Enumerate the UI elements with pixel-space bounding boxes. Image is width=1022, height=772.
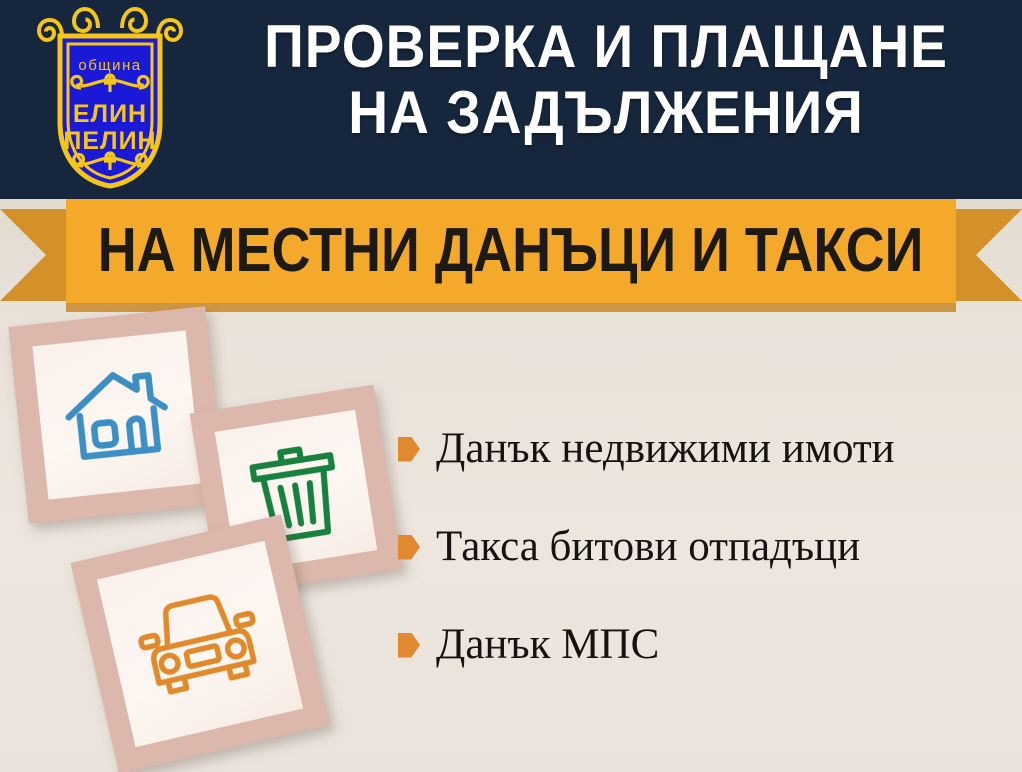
list-item-label: Такса битови отпадъци [436, 522, 860, 572]
stamp-inner [32, 330, 201, 499]
page-title-line-1: ПРОВЕРКА И ПЛАЩАНЕ [223, 14, 988, 80]
list-item-label: Данък МПС [436, 620, 659, 670]
ribbon-text: НА МЕСТНИ ДАНЪЦИ И ТАКСИ [98, 220, 924, 282]
tax-type-list: Данък недвижими имоти Такса битови отпад… [398, 424, 1018, 718]
bullet-arrow-icon [398, 437, 420, 462]
crest-name-line-1: ЕЛИН [73, 100, 147, 128]
list-item[interactable]: Данък недвижими имоти [398, 424, 1018, 474]
ribbon-banner: НА МЕСТНИ ДАНЪЦИ И ТАКСИ [66, 199, 956, 303]
header-title-group: ПРОВЕРКА И ПЛАЩАНЕ НА ЗАДЪЛЖЕНИЯ [190, 14, 1022, 146]
subtitle-ribbon: НА МЕСТНИ ДАНЪЦИ И ТАКСИ [0, 199, 1022, 309]
list-item[interactable]: Такса битови отпадъци [398, 522, 1018, 572]
house-icon [56, 358, 178, 471]
bullet-arrow-icon [398, 535, 420, 560]
header-band: община ЕЛИН ПЕЛИН [0, 0, 1022, 199]
crest-top-word: община [78, 57, 141, 74]
car-front-icon [130, 581, 270, 706]
list-item[interactable]: Данък МПС [398, 620, 1018, 670]
coat-of-arms-logo: община ЕЛИН ПЕЛИН [36, 6, 184, 192]
bullet-arrow-icon [398, 633, 420, 658]
page-title-line-2: НА ЗАДЪЛЖЕНИЯ [223, 80, 988, 146]
crest-name-line-2: ПЕЛИН [63, 127, 156, 155]
list-item-label: Данък недвижими имоти [436, 424, 895, 474]
poster-root: община ЕЛИН ПЕЛИН [0, 0, 1022, 772]
crest-icon: община ЕЛИН ПЕЛИН [36, 6, 184, 192]
